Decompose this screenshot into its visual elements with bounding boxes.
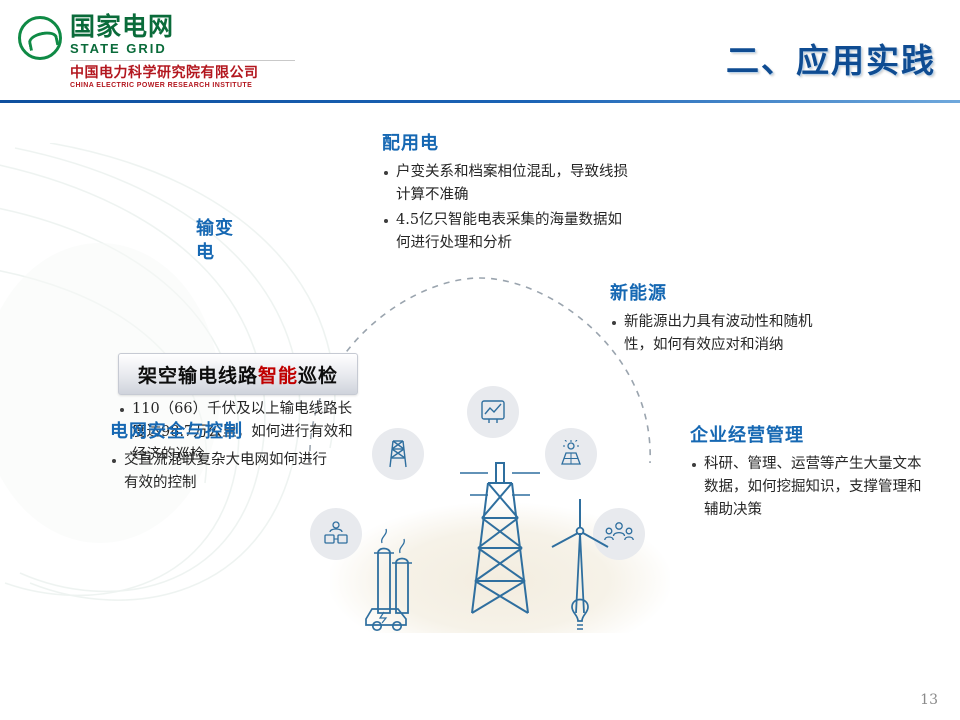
brand-divider: [70, 60, 295, 61]
list-item: 交直流混联复杂大电网如何进行有效的控制: [110, 449, 340, 495]
slide-body: 配用电 户变关系和档案相位混乱，导致线损计算不准确 4.5亿只智能电表采集的海量…: [0, 103, 960, 720]
list-item: 户变关系和档案相位混乱，导致线损计算不准确: [382, 161, 632, 207]
block-list-new-energy: 新能源出力具有波动性和随机性，如何有效应对和消纳: [610, 311, 840, 357]
block-list-distribution: 户变关系和档案相位混乱，导致线损计算不准确 4.5亿只智能电表采集的海量数据如何…: [382, 161, 632, 255]
chart-monitor-icon: [480, 399, 506, 425]
block-new-energy: 新能源 新能源出力具有波动性和随机性，如何有效应对和消纳: [610, 281, 840, 359]
block-title-enterprise-management: 企业经营管理: [690, 423, 925, 447]
block-list-enterprise-management: 科研、管理、运营等产生大量文本数据，如何挖掘知识，支撑管理和辅助决策: [690, 453, 925, 522]
block-title-distribution: 配用电: [382, 131, 632, 155]
institute-name-cn: 中国电力科学研究院有限公司: [70, 64, 295, 81]
block-grid-security: 电网安全与控制 交直流混联复杂大电网如何进行有效的控制: [110, 419, 340, 497]
page-title: 二、应用实践: [726, 34, 936, 82]
list-item: 4.5亿只智能电表采集的海量数据如何进行处理和分析: [382, 209, 632, 255]
page-number: 13: [920, 692, 938, 708]
block-list-grid-security: 交直流混联复杂大电网如何进行有效的控制: [110, 449, 340, 495]
block-enterprise-management: 企业经营管理 科研、管理、运营等产生大量文本数据，如何挖掘知识，支撑管理和辅助决…: [690, 423, 925, 524]
wind-turbine-icon: [552, 499, 608, 613]
block-distribution: 配用电 户变关系和档案相位混乱，导致线损计算不准确 4.5亿只智能电表采集的海量…: [382, 131, 632, 257]
block-title-grid-security: 电网安全与控制: [110, 419, 340, 443]
block-title-transmission: 输变电: [196, 216, 236, 264]
slide-header: 国家电网 STATE GRID 中国电力科学研究院有限公司 CHINA ELEC…: [0, 0, 960, 100]
state-grid-logo-icon: [18, 16, 62, 60]
central-power-scene: [330, 423, 670, 653]
list-item: 新能源出力具有波动性和随机性，如何有效应对和消纳: [610, 311, 840, 357]
power-plant-icon: [374, 529, 412, 613]
list-item: 科研、管理、运营等产生大量文本数据，如何挖掘知识，支撑管理和辅助决策: [690, 453, 925, 522]
brand-name-en: STATE GRID: [70, 41, 295, 56]
brand-logo: 国家电网 STATE GRID 中国电力科学研究院有限公司 CHINA ELEC…: [18, 14, 295, 91]
brand-text: 国家电网 STATE GRID 中国电力科学研究院有限公司 CHINA ELEC…: [70, 14, 295, 91]
transmission-tower-large-icon: [460, 463, 540, 613]
block-transmission-title: 输变电: [196, 216, 236, 264]
brand-name-cn: 国家电网: [70, 14, 295, 41]
light-bulb-icon: [572, 600, 588, 630]
block-title-new-energy: 新能源: [610, 281, 840, 305]
institute-name-en: CHINA ELECTRIC POWER RESEARCH INSTITUTE: [70, 81, 295, 91]
